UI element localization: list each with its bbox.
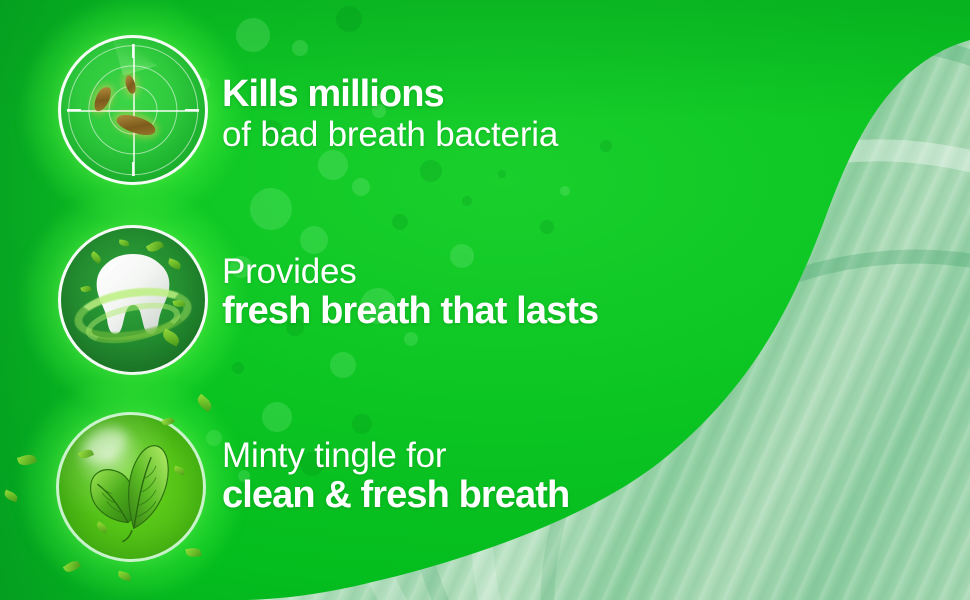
benefit-headline: Provides <box>222 252 742 291</box>
benefit-text-fresh-breath: Provides fresh breath that lasts <box>222 252 742 332</box>
benefits-banner: Kills millions of bad breath bacteria <box>0 0 970 600</box>
benefit-text-minty-tingle: Minty tingle for clean & fresh breath <box>222 436 722 516</box>
benefit-headline: Kills millions <box>222 74 692 115</box>
benefit-subline: of bad breath bacteria <box>222 115 692 154</box>
benefit-text-kills-bacteria: Kills millions of bad breath bacteria <box>222 74 692 154</box>
mint-leaves-shape <box>59 415 203 559</box>
benefit-icon-kills-bacteria <box>58 35 208 185</box>
benefit-icon-fresh-breath <box>58 225 208 375</box>
benefit-icon-minty-tingle <box>56 412 206 562</box>
benefit-subline: fresh breath that lasts <box>222 291 742 332</box>
radar-bacteria-icon <box>58 35 208 185</box>
benefit-headline: Minty tingle for <box>222 436 722 475</box>
mint-leaf-bubble-icon <box>56 412 206 562</box>
tooth-mint-swirl-icon <box>58 225 208 375</box>
benefit-subline: clean & fresh breath <box>222 475 722 516</box>
